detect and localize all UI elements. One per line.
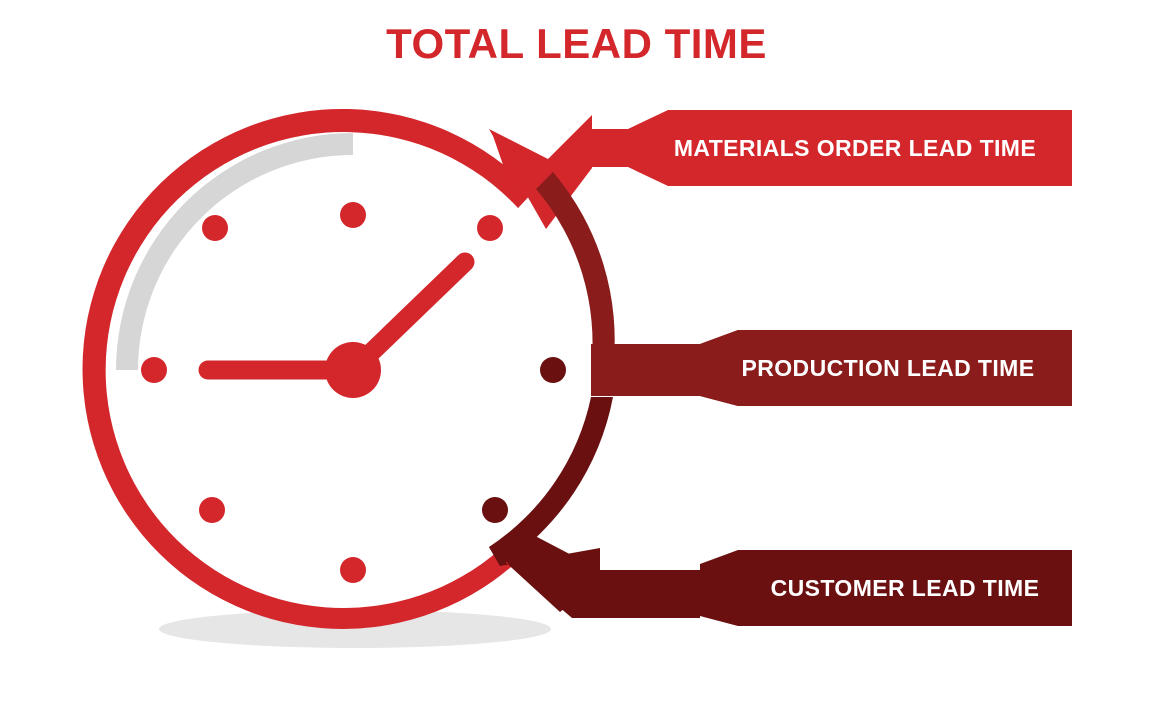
hour-mark-12-icon — [340, 202, 366, 228]
banner-label-materials: MATERIALS ORDER LEAD TIME — [674, 135, 1036, 161]
clock-arc-production — [536, 172, 615, 370]
infographic-canvas: TOTAL LEAD TIME MATERIALS ORDER LEAD TIM… — [0, 0, 1153, 720]
clock-inner-shadow-ring — [116, 133, 353, 370]
clock-face — [141, 202, 566, 583]
segment-production[interactable]: PRODUCTION LEAD TIME — [536, 172, 1072, 406]
hour-mark-8-icon — [199, 497, 225, 523]
hour-mark-6-icon — [340, 557, 366, 583]
hour-mark-10-icon — [202, 215, 228, 241]
hour-mark-3-icon — [540, 357, 566, 383]
hour-mark-9-icon — [141, 357, 167, 383]
clock-center-hub — [325, 342, 381, 398]
hour-mark-2-icon — [477, 215, 503, 241]
banner-label-customer: CUSTOMER LEAD TIME — [771, 575, 1040, 601]
segment-customer[interactable]: CUSTOMER LEAD TIME — [489, 397, 1072, 626]
connector-customer-arm — [489, 528, 700, 618]
hour-mark-4-icon — [482, 497, 508, 523]
banner-label-production: PRODUCTION LEAD TIME — [742, 355, 1035, 381]
lead-time-diagram: MATERIALS ORDER LEAD TIME PRODUCTION LEA… — [0, 0, 1153, 720]
